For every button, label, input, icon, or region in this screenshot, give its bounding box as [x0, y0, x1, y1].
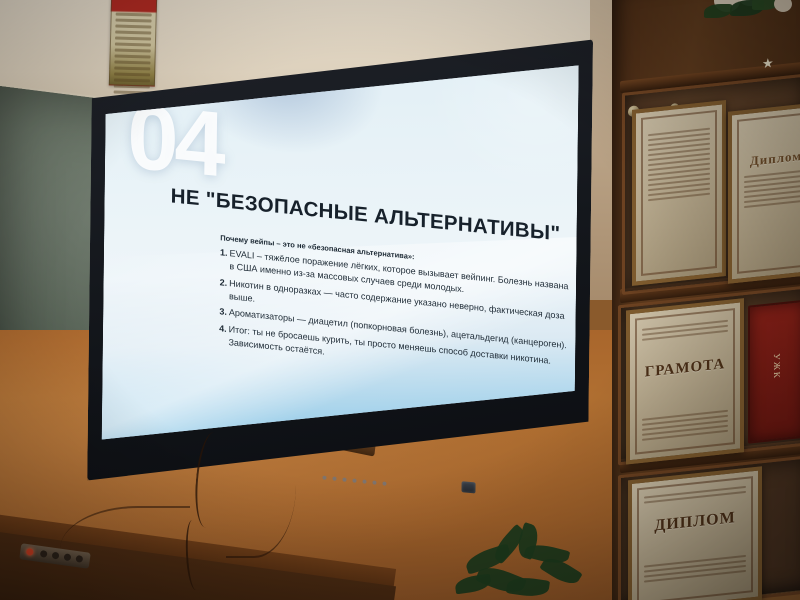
slide-body: Почему вейпы – это не «безопасная альтер… [219, 233, 570, 386]
panel-control-buttons[interactable] [322, 474, 442, 494]
list-item-number: 1. [220, 246, 228, 260]
houseplant [455, 528, 625, 600]
list-item-number: 2. [220, 276, 228, 290]
panel-button[interactable] [342, 477, 346, 481]
socket-icon [75, 555, 83, 563]
interactive-flat-panel[interactable]: 04 НЕ "БЕЗОПАСНЫЕ АЛЬТЕРНАТИВЫ" Почему в… [67, 0, 593, 553]
certificate [632, 100, 726, 286]
classroom-photo: ★ Диплом ГРАМОТА УЖК [0, 0, 800, 600]
panel-button[interactable] [332, 476, 336, 480]
power-indicator-icon [26, 548, 34, 556]
panel-button[interactable] [372, 480, 376, 484]
socket-icon [63, 553, 71, 561]
socket-icon [40, 550, 48, 558]
panel-button[interactable] [382, 481, 386, 485]
list-item-number: 4. [219, 322, 227, 336]
socket-icon [52, 552, 60, 560]
panel-brand-badge [461, 481, 475, 493]
star-decoration: ★ [762, 55, 774, 72]
certificate-diplom: ДИПЛОМ [628, 466, 762, 600]
panel-button[interactable] [352, 478, 356, 482]
certificate-cabinet: ★ Диплом ГРАМОТА УЖК [612, 0, 800, 600]
artificial-flowers [690, 0, 800, 46]
panel-button[interactable] [322, 476, 326, 480]
panel-button[interactable] [362, 479, 366, 483]
red-book: УЖК [748, 300, 800, 444]
certificate: Диплом [728, 102, 800, 284]
red-book-label: УЖК [772, 353, 782, 381]
list-item-number: 3. [219, 305, 227, 319]
certificate-gramota: ГРАМОТА [626, 298, 744, 464]
